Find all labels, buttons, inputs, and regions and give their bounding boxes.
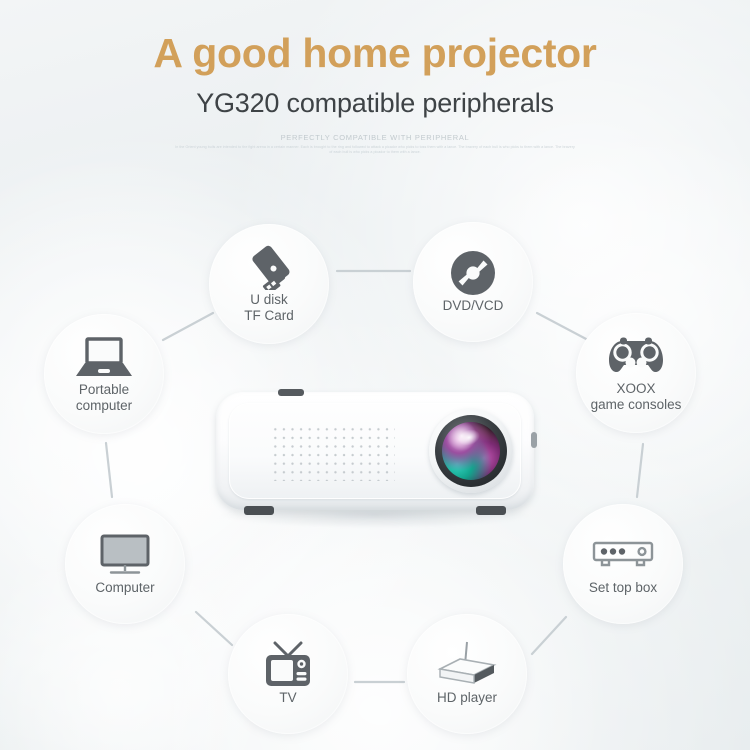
projector-foot	[244, 506, 274, 515]
page-subtitle: YG320 compatible peripherals	[0, 88, 750, 118]
node-label: Computer	[95, 580, 154, 596]
node-label: U disk TF Card	[244, 292, 294, 325]
node-set-top-box[interactable]: Set top box	[563, 504, 683, 624]
node-tv[interactable]: TV	[228, 614, 348, 734]
speaker-grille	[271, 425, 395, 481]
node-u-disk-tf-card[interactable]: U disk TF Card	[209, 224, 329, 344]
projector-product-image	[216, 390, 534, 525]
node-label: Set top box	[589, 580, 657, 596]
node-game-consoles[interactable]: XOOX game consoles	[576, 313, 696, 433]
gamepad-icon	[607, 333, 665, 379]
node-label-line: Portable	[76, 382, 132, 399]
node-hd-player[interactable]: HD player	[407, 614, 527, 734]
node-label-line: computer	[76, 398, 132, 415]
node-label: Portable computer	[76, 382, 132, 415]
projector-body	[216, 392, 534, 510]
header: A good home projector YG320 compatible p…	[0, 0, 750, 156]
monitor-icon	[98, 532, 152, 578]
node-label: DVD/VCD	[443, 298, 504, 314]
projector-top-nub	[278, 389, 304, 396]
laptop-icon	[75, 334, 133, 380]
hd-player-icon	[436, 642, 498, 688]
lens-barrel	[435, 415, 507, 487]
connector-dvd-game	[537, 313, 588, 340]
infographic-canvas: A good home projector YG320 compatible p…	[0, 0, 750, 750]
node-label: XOOX game consoles	[591, 381, 682, 414]
node-label-line: U disk	[244, 292, 294, 309]
node-label-line: TF Card	[244, 308, 294, 325]
usb-flash-drive-icon	[243, 244, 295, 290]
background-swirl	[120, 500, 640, 750]
set-top-box-icon	[592, 532, 654, 578]
node-portable-computer[interactable]: Portable computer	[44, 314, 164, 434]
filler-paragraph: In the Orient young bulls are intended t…	[175, 145, 575, 156]
projector-side-button	[531, 432, 537, 448]
projector-foot	[476, 506, 506, 515]
lens-glare	[456, 427, 482, 448]
node-label: HD player	[437, 690, 497, 706]
connector-game-settop	[637, 444, 643, 497]
node-label-line: XOOX	[591, 381, 682, 398]
retro-tv-icon	[262, 642, 314, 688]
page-title: A good home projector	[0, 30, 750, 76]
eyebrow-text: PERFECTLY COMPATIBLE WITH PERIPHERAL	[0, 133, 750, 142]
node-label-line: game consoles	[591, 397, 682, 414]
node-dvd-vcd[interactable]: DVD/VCD	[413, 222, 533, 342]
lens-glass	[442, 422, 500, 480]
connector-laptop-udisk	[163, 313, 213, 340]
connector-settop-hd	[532, 617, 566, 654]
projector-lens	[429, 409, 513, 493]
connector-tv-computer	[196, 612, 232, 645]
node-computer[interactable]: Computer	[65, 504, 185, 624]
projector-front-panel	[229, 403, 521, 499]
connector-computer-laptop	[106, 443, 112, 497]
node-label: TV	[279, 690, 296, 706]
disc-icon	[449, 250, 497, 296]
